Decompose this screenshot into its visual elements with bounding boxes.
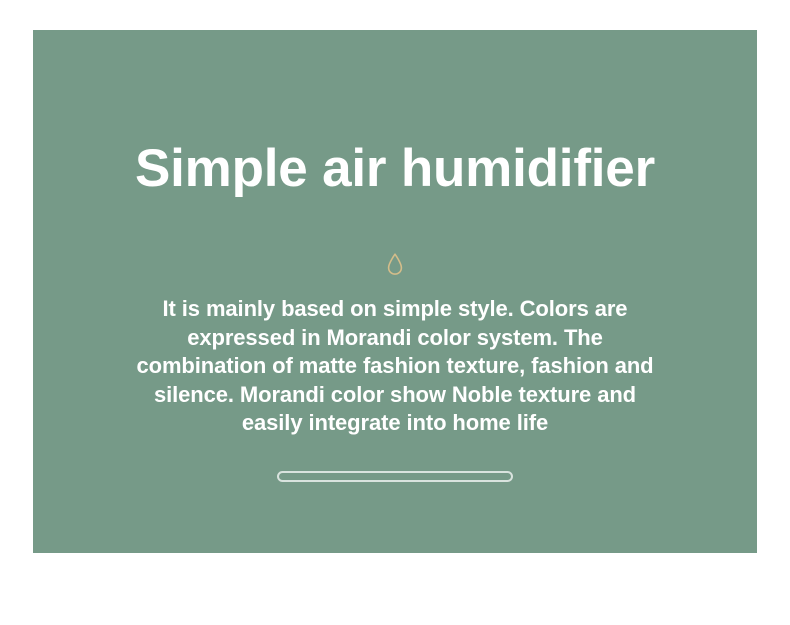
droplet-ornament — [33, 250, 757, 278]
page-title: Simple air humidifier — [33, 138, 757, 200]
product-banner-card: Simple air humidifier It is mainly based… — [33, 30, 757, 553]
product-banner-page: Simple air humidifier It is mainly based… — [0, 0, 790, 625]
water-droplet-icon — [386, 252, 404, 276]
capsule-divider — [277, 471, 513, 482]
capsule-divider-wrap — [33, 471, 757, 482]
product-description: It is mainly based on simple style. Colo… — [128, 295, 662, 438]
